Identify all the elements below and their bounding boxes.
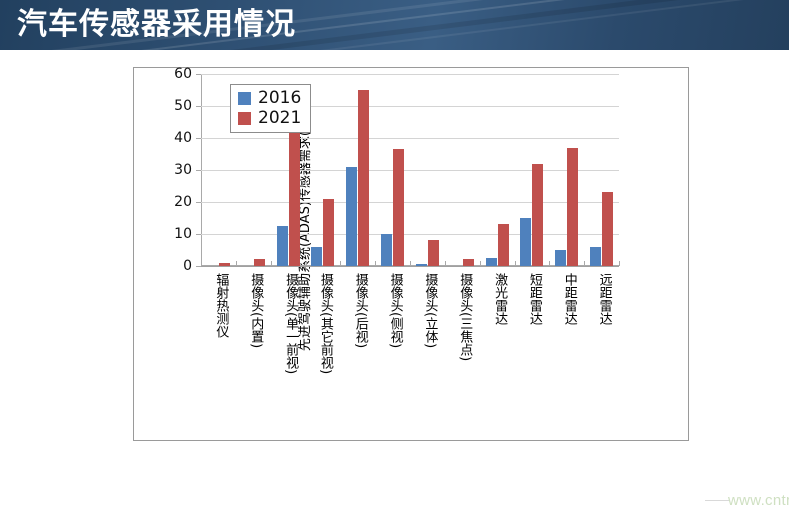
legend-swatch-2016-icon <box>238 92 251 105</box>
y-axis-tick-label: 60 <box>174 66 192 82</box>
chart-container: 先进驾驶辅助系统(ADAS)传感器需求(百万台) 6050403020100辐射… <box>133 67 689 441</box>
x-axis-tick <box>306 261 307 266</box>
x-axis-category-label: 中距雷达 <box>560 273 579 325</box>
bar-group <box>515 74 550 266</box>
x-axis-tick <box>271 261 272 266</box>
x-axis-tick <box>201 261 202 266</box>
bar-2021[interactable] <box>254 259 265 266</box>
bar-group <box>375 74 410 266</box>
bar-group <box>584 74 619 266</box>
bar-2016[interactable] <box>346 167 357 266</box>
x-axis-tick <box>584 261 585 266</box>
legend-item: 2021 <box>238 108 301 128</box>
x-axis-category-label: 辐射热测仪 <box>211 273 230 338</box>
bar-2016[interactable] <box>381 234 392 266</box>
x-axis-category-label: 摄像头(单一前视) <box>281 273 300 374</box>
x-axis-tick <box>340 261 341 266</box>
slide-header: 汽车传感器采用情况 <box>0 0 789 50</box>
bar-2021[interactable] <box>532 164 543 266</box>
x-axis-tick <box>619 261 620 266</box>
bar-2016[interactable] <box>486 258 497 266</box>
x-axis-tick <box>480 261 481 266</box>
x-axis-category-label: 激光雷达 <box>490 273 509 325</box>
bar-2021[interactable] <box>358 90 369 266</box>
bar-2016[interactable] <box>311 247 322 266</box>
bar-group <box>549 74 584 266</box>
bar-2021[interactable] <box>567 148 578 266</box>
bar-group <box>445 74 480 266</box>
x-axis-tick <box>549 261 550 266</box>
chart-legend: 2016 2021 <box>230 84 311 133</box>
x-axis-tick <box>236 261 237 266</box>
bar-2021[interactable] <box>498 224 509 266</box>
bar-group <box>340 74 375 266</box>
x-axis-category-label: 摄像头(三焦点) <box>455 273 474 361</box>
legend-item: 2016 <box>238 88 301 108</box>
bar-2021[interactable] <box>219 263 230 266</box>
x-axis-tick <box>445 261 446 266</box>
y-axis-tick-label: 30 <box>174 162 192 178</box>
bar-2021[interactable] <box>289 128 300 266</box>
x-axis-category-label: 远距雷达 <box>595 273 614 325</box>
gridline <box>201 266 619 267</box>
x-axis-category-label: 摄像头(侧视) <box>386 273 405 348</box>
y-axis-tick-label: 20 <box>174 194 192 210</box>
bar-group <box>480 74 515 266</box>
x-axis-category-label: 摄像头(立体) <box>420 273 439 348</box>
legend-label-2016: 2016 <box>258 90 301 107</box>
x-axis-tick <box>410 261 411 266</box>
x-axis-category-label: 摄像头(后视) <box>351 273 370 348</box>
bar-2016[interactable] <box>520 218 531 266</box>
bar-2021[interactable] <box>602 192 613 266</box>
watermark-rule <box>705 500 729 501</box>
y-axis-tick-label: 40 <box>174 130 192 146</box>
bar-2016[interactable] <box>277 226 288 266</box>
bar-2016[interactable] <box>416 264 427 266</box>
x-axis-tick <box>515 261 516 266</box>
x-axis-category-label: 短距雷达 <box>525 273 544 325</box>
y-axis-tick <box>196 266 201 267</box>
bar-2021[interactable] <box>428 240 439 266</box>
legend-swatch-2021-icon <box>238 112 251 125</box>
bar-2016[interactable] <box>555 250 566 266</box>
bar-group <box>410 74 445 266</box>
y-axis-tick-label: 10 <box>174 226 192 242</box>
x-axis-category-label: 摄像头(其它前视) <box>316 273 335 374</box>
bar-2021[interactable] <box>393 149 404 266</box>
x-axis-tick <box>375 261 376 266</box>
x-axis-category-label: 摄像头(内置) <box>246 273 265 348</box>
bar-2016[interactable] <box>590 247 601 266</box>
bar-2021[interactable] <box>323 199 334 266</box>
watermark: www.cntronics.com <box>728 492 789 509</box>
bar-2021[interactable] <box>463 259 474 266</box>
y-axis-tick-label: 0 <box>183 258 192 274</box>
legend-label-2021: 2021 <box>258 110 301 127</box>
page-title: 汽车传感器采用情况 <box>17 4 296 46</box>
y-axis-tick-label: 50 <box>174 98 192 114</box>
